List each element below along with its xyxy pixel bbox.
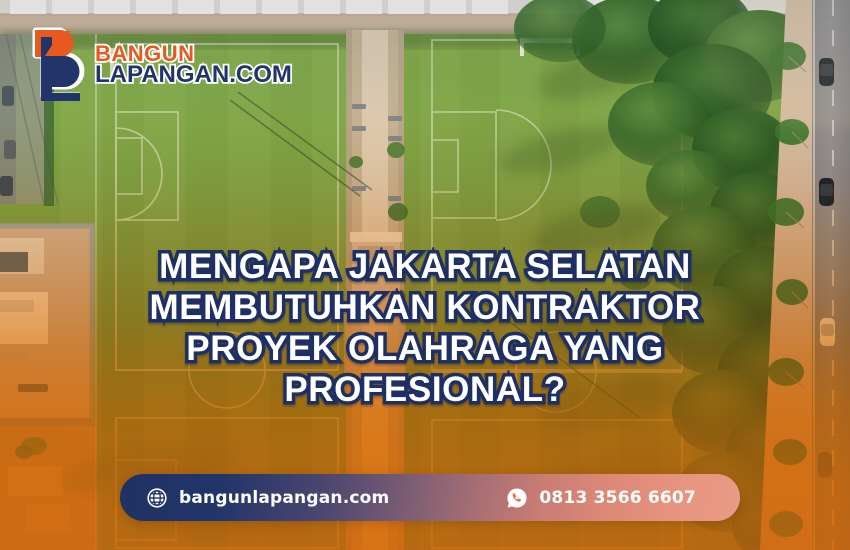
brand-wordmark: BANGUN LAPANGAN.COM — [95, 44, 292, 86]
headline-line-3: PROYEK OLAHRAGA YANG — [40, 328, 810, 369]
whatsapp-phone-icon — [506, 487, 528, 509]
brand-line-2: LAPANGAN.COM — [95, 64, 292, 86]
phone-contact[interactable]: 0813 3566 6607 — [506, 487, 696, 509]
phone-text: 0813 3566 6607 — [539, 488, 696, 508]
bl-monogram-logo-icon — [30, 26, 86, 104]
headline-block: MENGAPA JAKARTA SELATAN MEMBUTUHKAN KONT… — [0, 246, 850, 410]
contact-bar: bangunlapangan.com 0813 3566 6607 — [120, 474, 740, 521]
poster-canvas: BANGUN LAPANGAN.COM MENGAPA JAKARTA SELA… — [0, 0, 850, 550]
headline-line-4: PROFESIONAL? — [40, 369, 810, 410]
website-contact[interactable]: bangunlapangan.com — [146, 487, 389, 509]
headline-line-1: MENGAPA JAKARTA SELATAN — [40, 246, 810, 287]
headline-line-2: MEMBUTUHKAN KONTRAKTOR — [40, 287, 810, 328]
brand-logo[interactable]: BANGUN LAPANGAN.COM — [30, 26, 292, 104]
website-text: bangunlapangan.com — [179, 488, 389, 508]
globe-icon — [146, 487, 168, 509]
